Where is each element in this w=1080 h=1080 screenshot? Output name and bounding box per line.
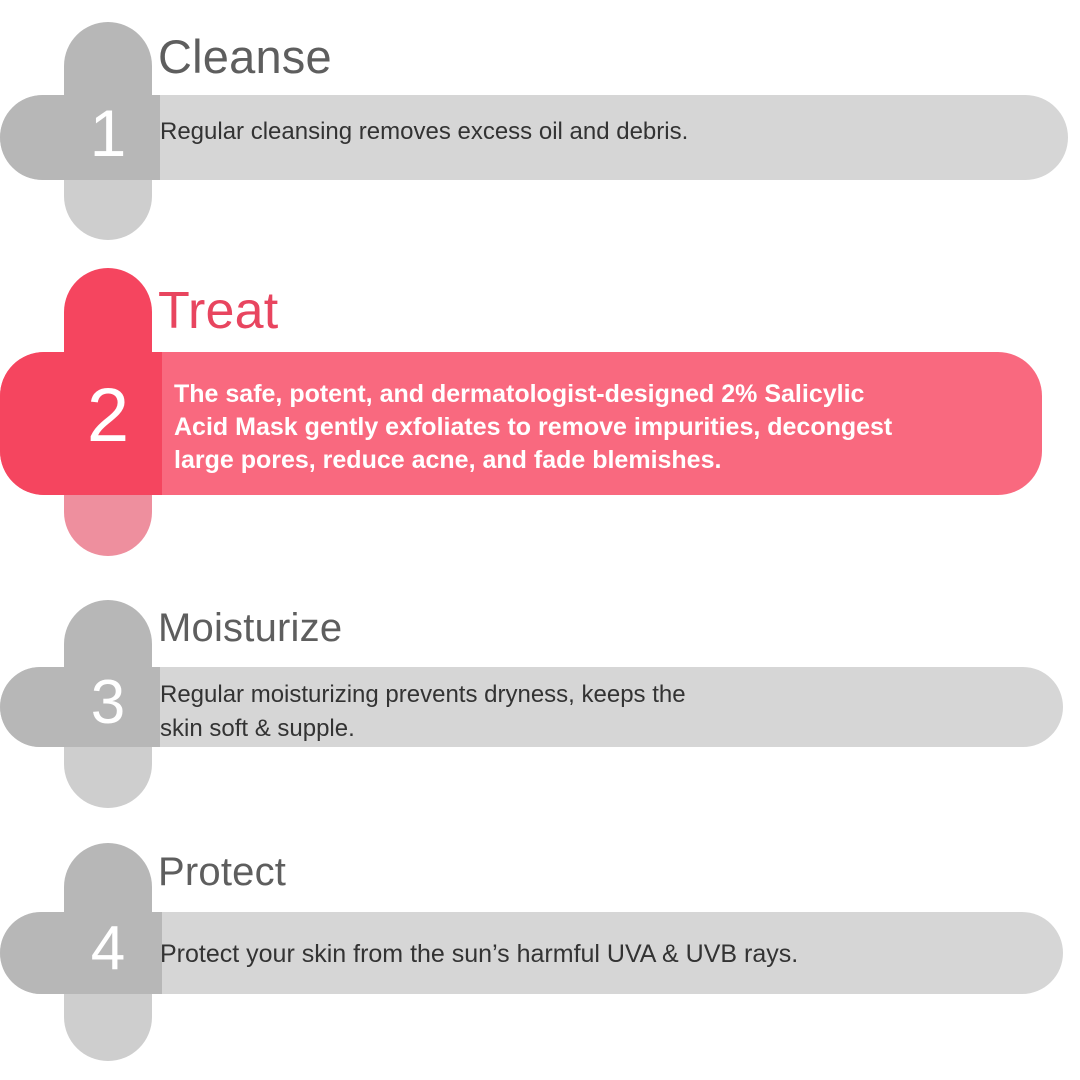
pill-lower-half xyxy=(64,180,152,240)
pill-lower-half xyxy=(64,747,152,808)
step-number: 1 xyxy=(64,100,152,166)
step-description: Regular moisturizing prevents dryness, k… xyxy=(160,678,1040,746)
step-heading: Cleanse xyxy=(158,33,332,80)
step-number: 3 xyxy=(64,672,152,734)
skincare-routine-infographic: 1CleanseRegular cleansing removes excess… xyxy=(0,0,1080,1080)
step-description: Protect your skin from the sun’s harmful… xyxy=(160,938,1040,970)
step-description: Regular cleansing removes excess oil and… xyxy=(160,116,1040,148)
step-description: The safe, potent, and dermatologist-desi… xyxy=(174,378,1054,477)
pill-lower-half xyxy=(64,994,152,1061)
step-heading: Treat xyxy=(158,285,278,337)
step-number: 2 xyxy=(64,378,152,454)
step-heading: Protect xyxy=(158,852,286,892)
pill-lower-half xyxy=(64,495,152,556)
step-number: 4 xyxy=(64,918,152,980)
step-heading: Moisturize xyxy=(158,608,342,648)
